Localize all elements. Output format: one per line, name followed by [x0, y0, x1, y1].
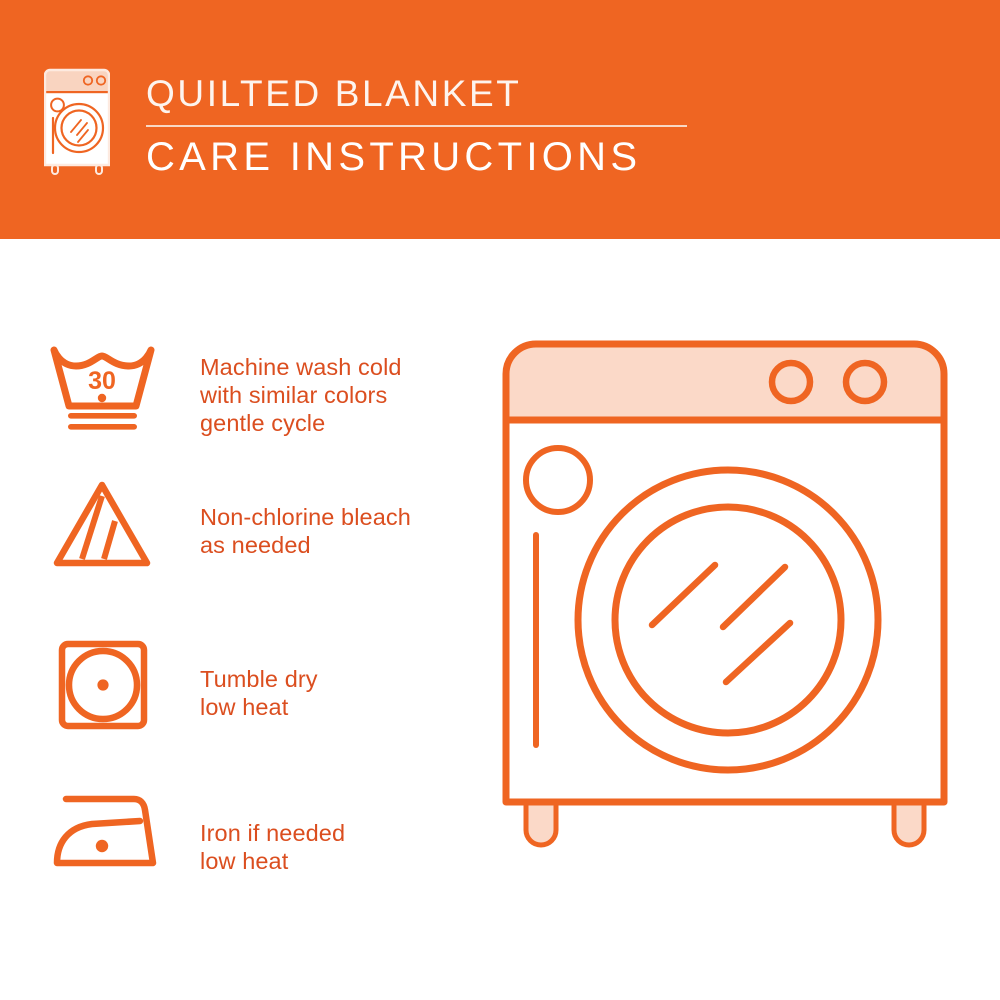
- machine-control-panel: [506, 344, 944, 420]
- front-load-washing-machine-illustration: [480, 330, 970, 945]
- triangle-non-chlorine-bleach-icon: [52, 479, 152, 571]
- care-text-tumble-dry: Tumble dry low heat: [200, 665, 318, 721]
- machine-feet: [526, 802, 924, 845]
- header-title-block: QUILTED BLANKET CARE INSTRUCTIONS: [146, 72, 746, 181]
- care-text-iron: Iron if needed low heat: [200, 819, 345, 875]
- care-instruction-list: 30 Machine wash cold with similar colors…: [0, 239, 480, 1000]
- title-divider: [146, 125, 687, 127]
- care-instructions-poster: QUILTED BLANKET CARE INSTRUCTIONS 30 Mac…: [0, 0, 1000, 1000]
- wash-temperature-label: 30: [88, 367, 116, 395]
- header-banner: QUILTED BLANKET CARE INSTRUCTIONS: [0, 0, 1000, 239]
- iron-low-heat-icon: [52, 791, 160, 871]
- tumble-dry-low-heat-icon: [57, 639, 149, 731]
- washing-machine-icon: [44, 66, 110, 176]
- page-title-secondary: CARE INSTRUCTIONS: [146, 133, 746, 181]
- page-title-primary: QUILTED BLANKET: [146, 72, 746, 116]
- care-text-bleach: Non-chlorine bleach as needed: [200, 503, 411, 559]
- care-text-wash: Machine wash cold with similar colors ge…: [200, 353, 402, 437]
- wash-tub-30-gentle-icon: 30: [50, 344, 156, 436]
